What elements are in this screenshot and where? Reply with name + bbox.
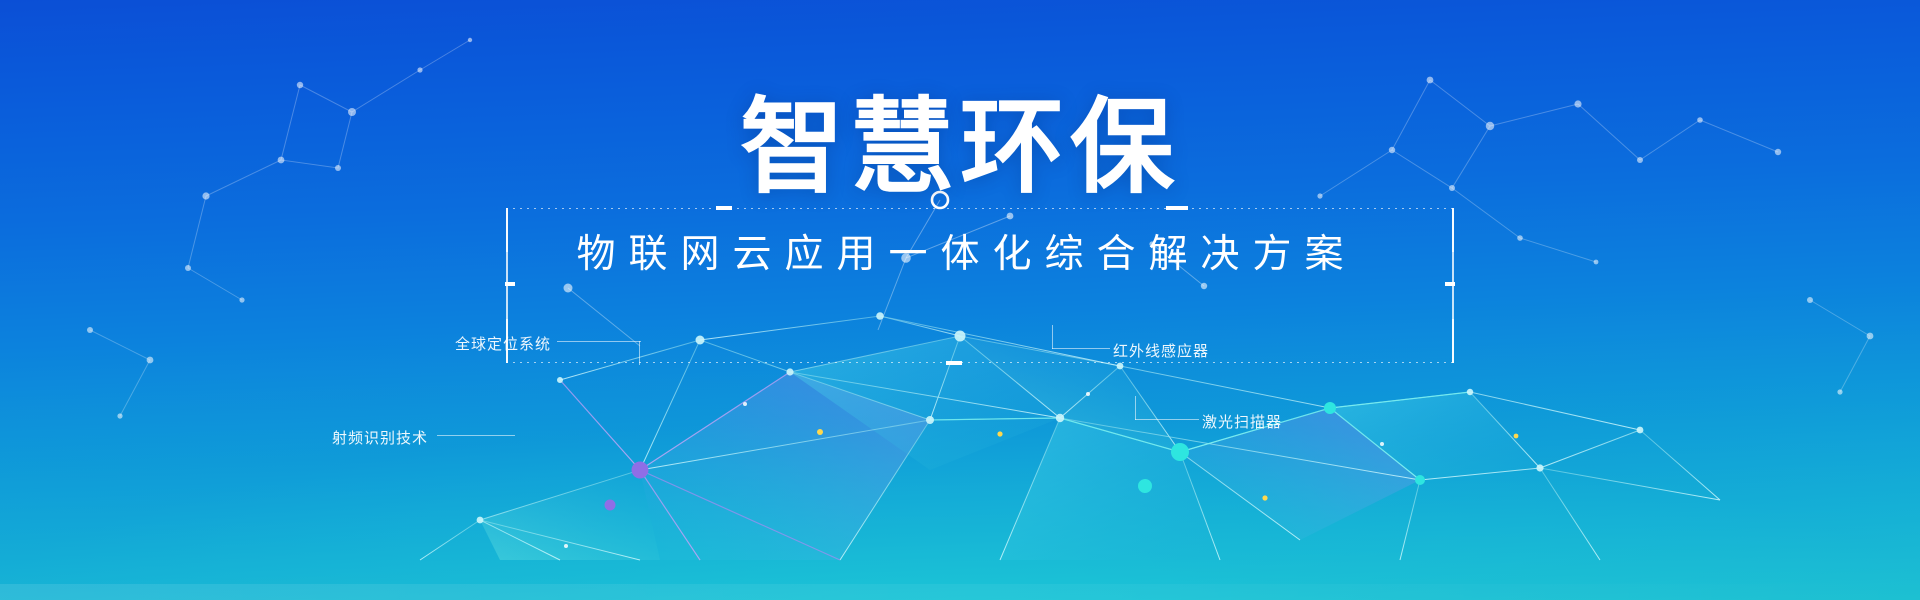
- leader-line-gps-drop: [639, 341, 641, 365]
- frame-tick-right: [1445, 282, 1455, 286]
- bottom-glow-bar: [0, 584, 1920, 600]
- frame-tick-left: [505, 282, 515, 286]
- leader-line-gps: [557, 341, 641, 342]
- leader-line-laser-drop: [1135, 396, 1137, 420]
- callout-label-laser: 激光扫描器: [1202, 411, 1282, 432]
- leader-line-laser: [1135, 419, 1199, 420]
- frame-top-dotted-line: [506, 208, 1454, 209]
- callout-label-infrared: 红外线感应器: [1113, 340, 1209, 361]
- banner-title: 智慧环保: [0, 96, 1920, 200]
- leader-line-infrared: [1052, 348, 1110, 349]
- frame-tick-bottom-1: [946, 361, 962, 365]
- frame-tick-top-2: [1166, 206, 1188, 210]
- banner-subtitle: 物联网云应用一体化综合解决方案: [0, 232, 1920, 278]
- hero-banner: 智慧环保 物联网云应用一体化综合解决方案 全球定位系统 红外线感应器 射频识别技…: [0, 0, 1920, 600]
- frame-corner-bottom-right: [1408, 319, 1454, 363]
- leader-line-rfid: [437, 435, 515, 436]
- leader-line-infrared-drop: [1052, 325, 1054, 349]
- callout-label-gps: 全球定位系统: [455, 333, 551, 354]
- frame-tick-top-1: [716, 206, 732, 210]
- frame-bottom-dotted-line: [506, 362, 1454, 363]
- callout-label-rfid: 射频识别技术: [332, 427, 428, 448]
